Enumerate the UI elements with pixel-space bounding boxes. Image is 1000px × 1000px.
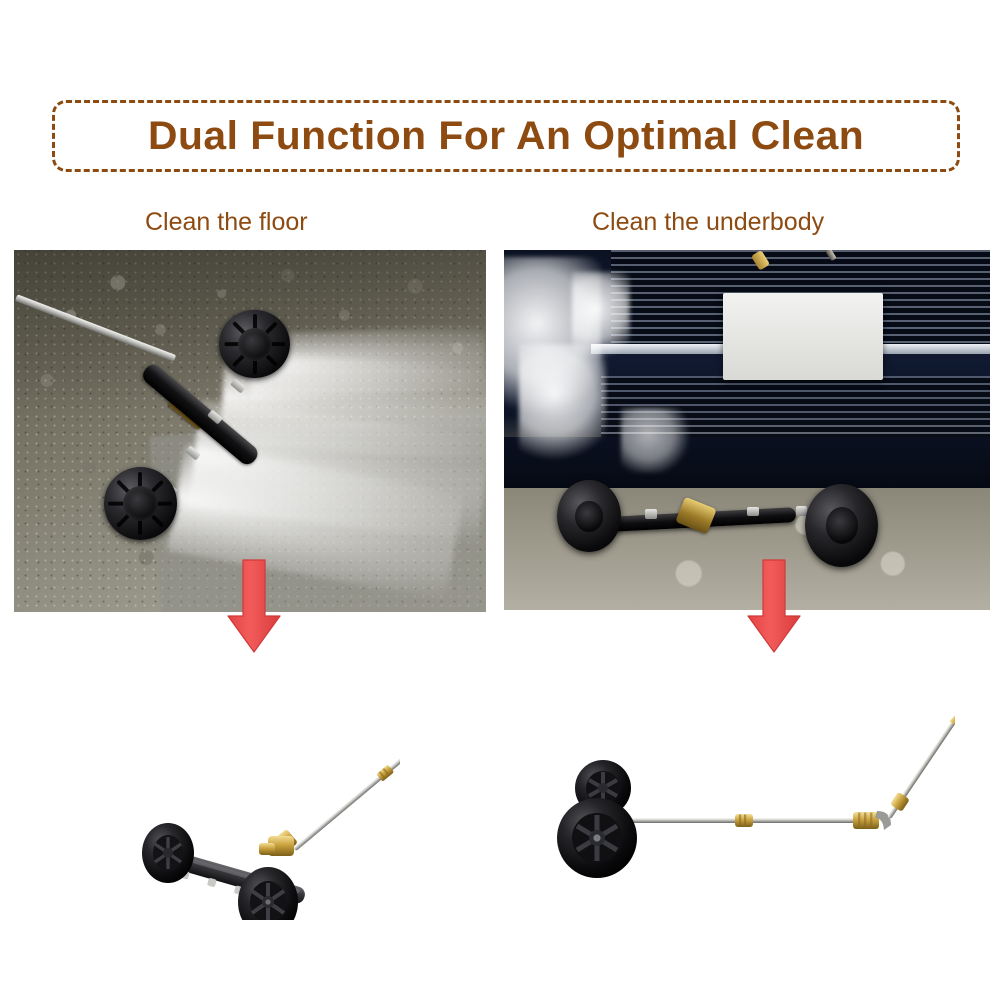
wheel — [104, 467, 177, 539]
spray-nozzle — [747, 507, 759, 516]
down-arrow-icon-underbody — [746, 558, 802, 661]
spray-nozzle — [645, 509, 657, 518]
product-image-underbody-mode — [555, 690, 955, 890]
wheel — [219, 310, 290, 379]
product-image-floor-mode — [110, 640, 400, 920]
photo-clean-the-underbody — [504, 250, 990, 610]
infographic-page: Dual Function For An Optimal Clean Clean… — [0, 0, 1000, 1000]
license-plate — [723, 293, 883, 379]
wheel — [557, 798, 637, 878]
wheel — [142, 823, 194, 883]
foam-suds — [572, 272, 630, 366]
page-title: Dual Function For An Optimal Clean — [148, 116, 864, 156]
wheel — [557, 480, 620, 552]
foam-suds — [621, 408, 689, 473]
title-banner: Dual Function For An Optimal Clean — [52, 100, 960, 172]
wheel — [805, 484, 878, 567]
column-label-underbody: Clean the underbody — [592, 208, 824, 237]
column-label-floor: Clean the floor — [145, 208, 308, 237]
